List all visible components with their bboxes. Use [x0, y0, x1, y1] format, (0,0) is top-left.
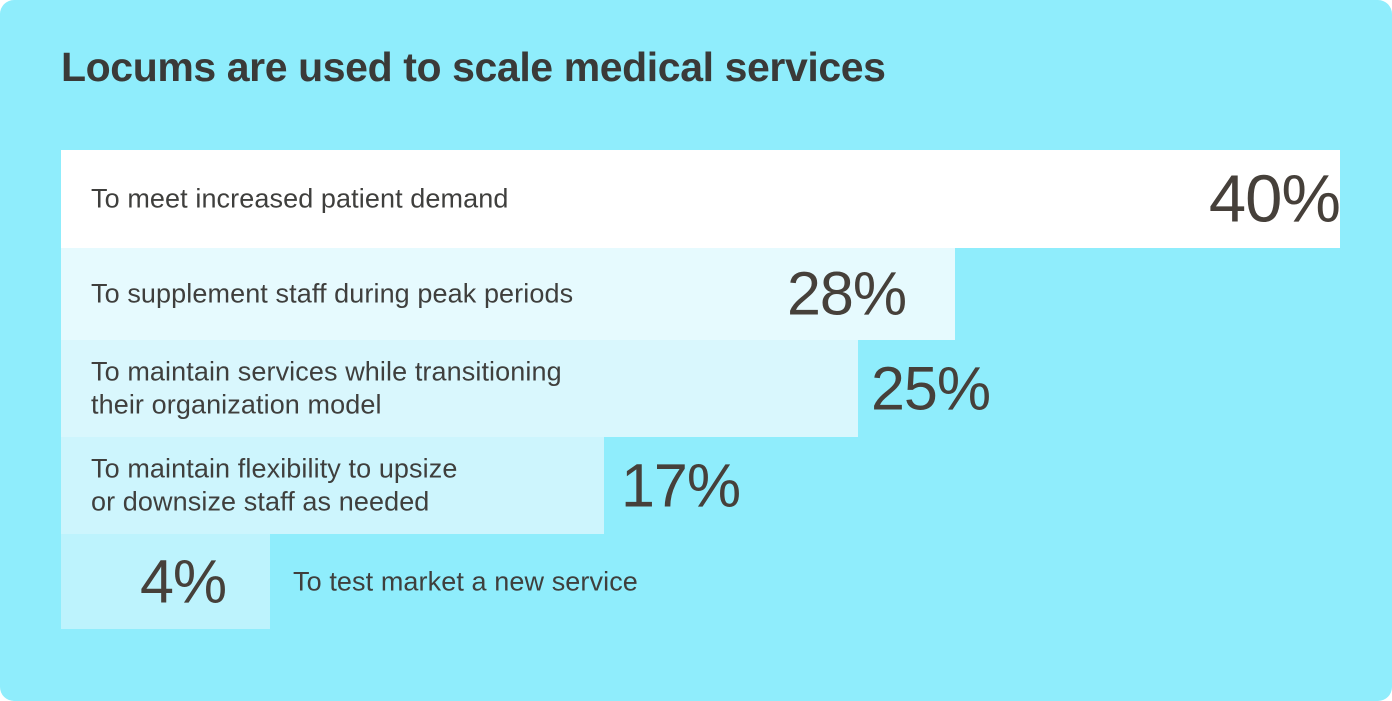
bar-content: 4% To test market a new service — [61, 534, 1392, 629]
bar-content: To meet increased patient demand 40% — [61, 150, 1392, 248]
infographic-canvas: Locums are used to scale medical service… — [0, 0, 1392, 701]
bar-label: To maintain services while transitioning… — [91, 355, 562, 422]
bar-content: To maintain flexibility to upsize or dow… — [61, 437, 1392, 534]
bar-row: To maintain flexibility to upsize or dow… — [0, 437, 1392, 534]
bar-label: To meet increased patient demand — [91, 182, 508, 215]
bar-content: To maintain services while transitioning… — [61, 340, 1392, 437]
bar-value: 40% — [1209, 166, 1340, 233]
bar-content: To supplement staff during peak periods … — [61, 248, 1392, 340]
page-title: Locums are used to scale medical service… — [61, 44, 886, 91]
bar-label: To supplement staff during peak periods — [91, 277, 573, 310]
bar-value: 17% — [621, 455, 740, 516]
horizontal-bar-chart: To meet increased patient demand 40% To … — [0, 150, 1392, 630]
bar-row: To meet increased patient demand 40% — [0, 150, 1392, 248]
bar-value: 28% — [787, 264, 906, 325]
bar-label: To maintain flexibility to upsize or dow… — [91, 452, 457, 519]
bar-value: 25% — [871, 358, 990, 419]
bar-label: To test market a new service — [293, 565, 638, 598]
bar-row: To maintain services while transitioning… — [0, 340, 1392, 437]
bar-row: 4% To test market a new service — [0, 534, 1392, 629]
bar-value: 4% — [140, 551, 226, 612]
bar-row: To supplement staff during peak periods … — [0, 248, 1392, 340]
